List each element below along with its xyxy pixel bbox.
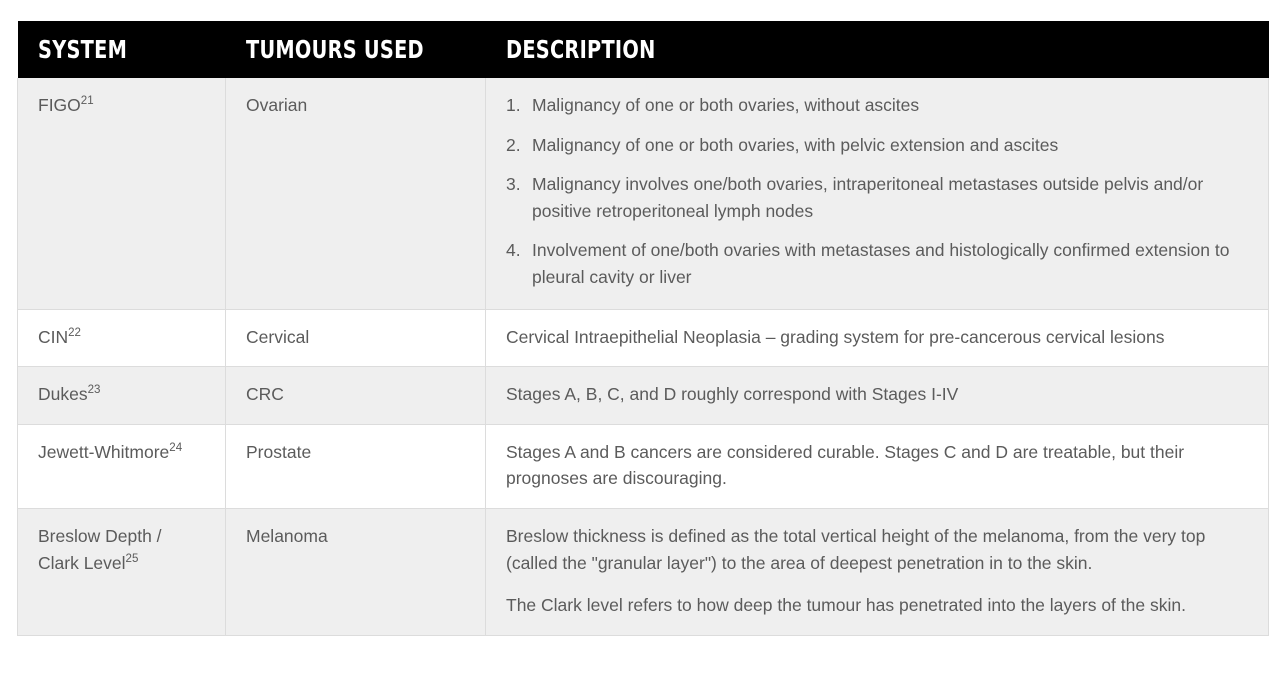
page-root: SYSTEM TUMOURS USED DESCRIPTION FIGO21 O… xyxy=(0,0,1286,680)
table-header-row: SYSTEM TUMOURS USED DESCRIPTION xyxy=(18,21,1269,78)
cell-description: Stages A, B, C, and D roughly correspond… xyxy=(486,367,1269,425)
column-header-description: DESCRIPTION xyxy=(486,21,1269,78)
system-name: Jewett-Whitmore xyxy=(38,442,169,462)
cell-description: Stages A and B cancers are considered cu… xyxy=(486,424,1269,508)
table-header: SYSTEM TUMOURS USED DESCRIPTION xyxy=(18,21,1269,78)
list-item-text: Involvement of one/both ovaries with met… xyxy=(532,240,1229,287)
description-paragraph: Stages A, B, C, and D roughly correspond… xyxy=(506,381,1250,408)
list-item-text: Malignancy of one or both ovaries, witho… xyxy=(532,95,919,115)
cell-system: Breslow Depth / Clark Level25 xyxy=(18,508,226,635)
system-name: Dukes xyxy=(38,384,88,404)
list-item-number: 1. xyxy=(506,92,521,119)
cell-description: Cervical Intraepithelial Neoplasia – gra… xyxy=(486,309,1269,367)
system-reference: 25 xyxy=(126,553,139,565)
system-name: CIN xyxy=(38,327,68,347)
table-row: FIGO21 Ovarian 1. Malignancy of one or b… xyxy=(18,78,1269,309)
cancer-staging-systems-table: SYSTEM TUMOURS USED DESCRIPTION FIGO21 O… xyxy=(17,21,1269,636)
cell-tumours-used: CRC xyxy=(226,367,486,425)
cell-description: Breslow thickness is defined as the tota… xyxy=(486,508,1269,635)
system-name: FIGO xyxy=(38,95,81,115)
system-reference: 21 xyxy=(81,95,94,107)
description-paragraph: The Clark level refers to how deep the t… xyxy=(506,592,1250,619)
cell-system: Jewett-Whitmore24 xyxy=(18,424,226,508)
system-reference: 24 xyxy=(169,442,182,454)
list-item-number: 3. xyxy=(506,171,521,198)
list-item: 2. Malignancy of one or both ovaries, wi… xyxy=(506,132,1250,159)
cell-system: FIGO21 xyxy=(18,78,226,309)
cell-tumours-used: Cervical xyxy=(226,309,486,367)
column-header-description-label: DESCRIPTION xyxy=(506,35,656,64)
cell-tumours-used: Melanoma xyxy=(226,508,486,635)
cell-description: 1. Malignancy of one or both ovaries, wi… xyxy=(486,78,1269,309)
system-reference: 23 xyxy=(88,384,101,396)
table-row: Breslow Depth / Clark Level25 Melanoma B… xyxy=(18,508,1269,635)
cell-tumours-used: Prostate xyxy=(226,424,486,508)
system-reference: 22 xyxy=(68,327,81,339)
description-paragraph: Breslow thickness is defined as the tota… xyxy=(506,523,1250,576)
list-item: 1. Malignancy of one or both ovaries, wi… xyxy=(506,92,1250,119)
column-header-system: SYSTEM xyxy=(18,21,226,78)
description-paragraph: Cervical Intraepithelial Neoplasia – gra… xyxy=(506,324,1250,351)
column-header-tumours-used-label: TUMOURS USED xyxy=(246,35,424,64)
column-header-tumours-used: TUMOURS USED xyxy=(226,21,486,78)
list-item: 3. Malignancy involves one/both ovaries,… xyxy=(506,171,1250,224)
table-row: Dukes23 CRC Stages A, B, C, and D roughl… xyxy=(18,367,1269,425)
cell-system: CIN22 xyxy=(18,309,226,367)
list-item: 4. Involvement of one/both ovaries with … xyxy=(506,237,1250,290)
list-item-text: Malignancy of one or both ovaries, with … xyxy=(532,135,1058,155)
cell-system: Dukes23 xyxy=(18,367,226,425)
list-item-number: 4. xyxy=(506,237,521,264)
description-paragraph: Stages A and B cancers are considered cu… xyxy=(506,439,1250,492)
cell-tumours-used: Ovarian xyxy=(226,78,486,309)
table-row: CIN22 Cervical Cervical Intraepithelial … xyxy=(18,309,1269,367)
list-item-text: Malignancy involves one/both ovaries, in… xyxy=(532,174,1203,221)
column-header-system-label: SYSTEM xyxy=(38,35,127,64)
system-name: Breslow Depth / Clark Level xyxy=(38,526,162,573)
table-body: FIGO21 Ovarian 1. Malignancy of one or b… xyxy=(18,78,1269,635)
list-item-number: 2. xyxy=(506,132,521,159)
table-row: Jewett-Whitmore24 Prostate Stages A and … xyxy=(18,424,1269,508)
description-ordered-list: 1. Malignancy of one or both ovaries, wi… xyxy=(506,92,1250,291)
